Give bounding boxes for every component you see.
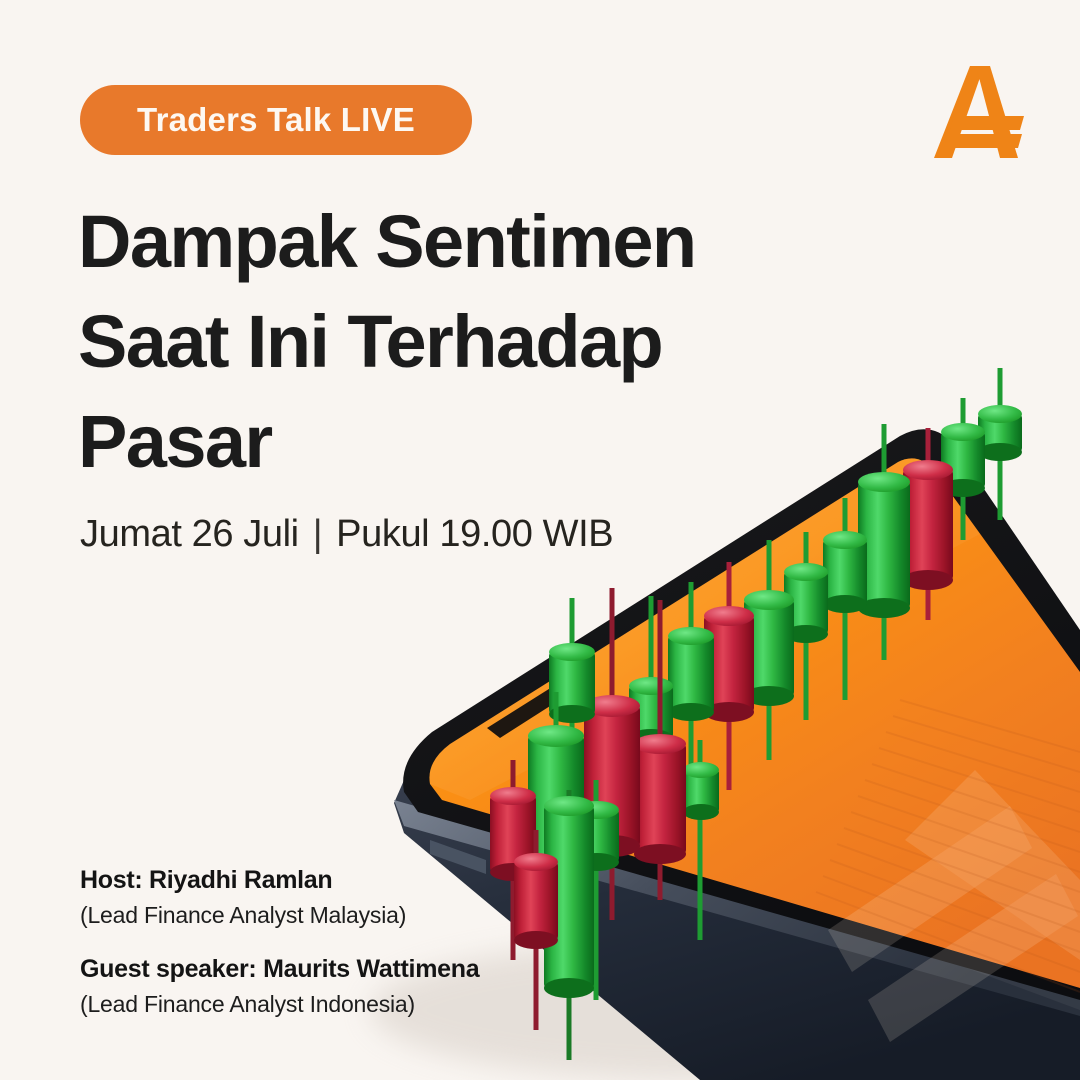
candle-15 bbox=[858, 424, 910, 660]
candle-12 bbox=[744, 540, 794, 760]
page-title: Dampak Sentimen Saat Ini Terhadap Pasar bbox=[78, 192, 838, 492]
speaker-credits: Host: Riyadhi Ramlan (Lead Finance Analy… bbox=[80, 866, 479, 1018]
brand-a-currency-icon bbox=[928, 58, 1032, 166]
screen-stripe-texture bbox=[816, 700, 1080, 992]
candle-2 bbox=[544, 790, 594, 1060]
candle-7 bbox=[634, 600, 686, 900]
headline-line-1: Dampak Sentimen bbox=[78, 192, 838, 292]
host-name: Host: Riyadhi Ramlan bbox=[80, 866, 479, 895]
guest-credit: Guest speaker: Maurits Wattimena (Lead F… bbox=[80, 955, 479, 1018]
candle-4 bbox=[528, 692, 584, 960]
host-credit: Host: Riyadhi Ramlan (Lead Finance Analy… bbox=[80, 866, 479, 929]
candle-10 bbox=[668, 582, 714, 806]
phone-earpiece-slot bbox=[487, 682, 572, 738]
headline-line-3: Pasar bbox=[78, 392, 838, 492]
candle-3 bbox=[575, 780, 619, 1000]
phone-side-wall bbox=[394, 762, 1080, 1080]
candle-17 bbox=[941, 398, 985, 540]
candle-11 bbox=[704, 562, 754, 790]
candle-5 bbox=[549, 598, 595, 900]
candle-9 bbox=[629, 596, 673, 830]
promo-poster: Traders Talk LIVE Dampak Sentimen Saat I… bbox=[0, 0, 1080, 1080]
candle-6 bbox=[584, 588, 640, 920]
headline-line-2: Saat Ini Terhadap bbox=[78, 292, 838, 392]
candle-18 bbox=[978, 368, 1022, 520]
schedule-line: Jumat 26 Juli | Pukul 19.00 WIB bbox=[80, 513, 613, 556]
schedule-date: Jumat 26 Juli bbox=[80, 513, 299, 556]
candle-1 bbox=[490, 760, 536, 960]
candle-16 bbox=[903, 428, 953, 620]
guest-role: (Lead Finance Analyst Indonesia) bbox=[80, 991, 479, 1018]
candle-13 bbox=[784, 532, 828, 720]
schedule-time: Pukul 19.00 WIB bbox=[336, 513, 613, 556]
host-role: (Lead Finance Analyst Malaysia) bbox=[80, 902, 479, 929]
brand-a-watermark-icon bbox=[828, 770, 1080, 1042]
candle-8 bbox=[683, 740, 719, 940]
candle-0 bbox=[514, 830, 558, 1030]
live-badge[interactable]: Traders Talk LIVE bbox=[80, 85, 472, 155]
phone-bottom-rim bbox=[394, 800, 1080, 1016]
screen-sheen bbox=[429, 458, 980, 800]
schedule-separator: | bbox=[313, 513, 322, 556]
live-badge-label: Traders Talk LIVE bbox=[137, 101, 415, 139]
guest-name: Guest speaker: Maurits Wattimena bbox=[80, 955, 479, 984]
candle-14 bbox=[823, 498, 867, 700]
